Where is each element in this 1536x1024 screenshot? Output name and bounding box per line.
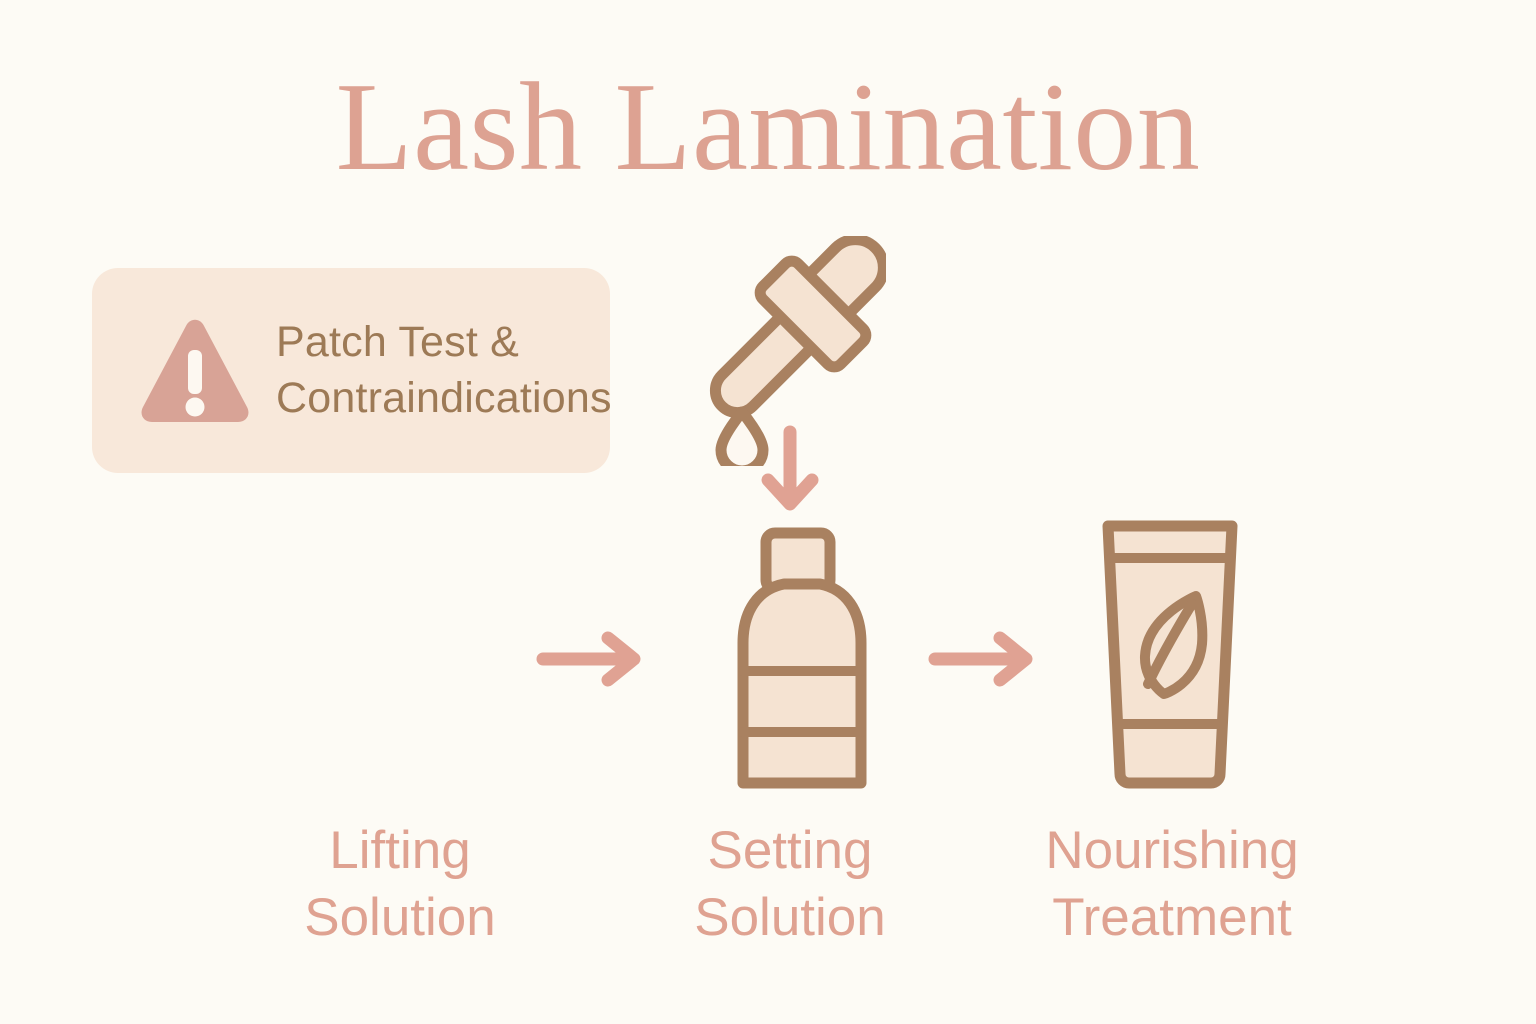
infographic-canvas: Lash Lamination Patch Test & Contraindic… [0,0,1536,1024]
step-label-line-2: Solution [200,885,600,952]
step-label-line-1: Nourishing [972,818,1372,885]
step-label-nourishing-treatment: Nourishing Treatment [972,818,1372,952]
arrow-right-icon-2 [928,631,1038,692]
step-label-setting-solution: Setting Solution [590,818,990,952]
badge-line-1: Patch Test & [276,315,612,370]
patch-test-badge-text: Patch Test & Contraindications [276,315,612,425]
tube-leaf-icon [1094,518,1246,795]
bottle-icon [722,527,882,794]
step-label-line-2: Solution [590,885,990,952]
step-label-line-1: Lifting [200,818,600,885]
warning-triangle-icon [136,315,254,427]
badge-line-2: Contraindications [276,371,612,426]
patch-test-badge[interactable]: Patch Test & Contraindications [92,268,610,473]
step-label-lifting-solution: Lifting Solution [200,818,600,952]
arrow-right-icon-1 [536,631,646,692]
step-label-line-2: Treatment [972,885,1372,952]
arrow-down-icon [760,424,820,519]
page-title: Lash Lamination [0,62,1536,194]
step-label-line-1: Setting [590,818,990,885]
